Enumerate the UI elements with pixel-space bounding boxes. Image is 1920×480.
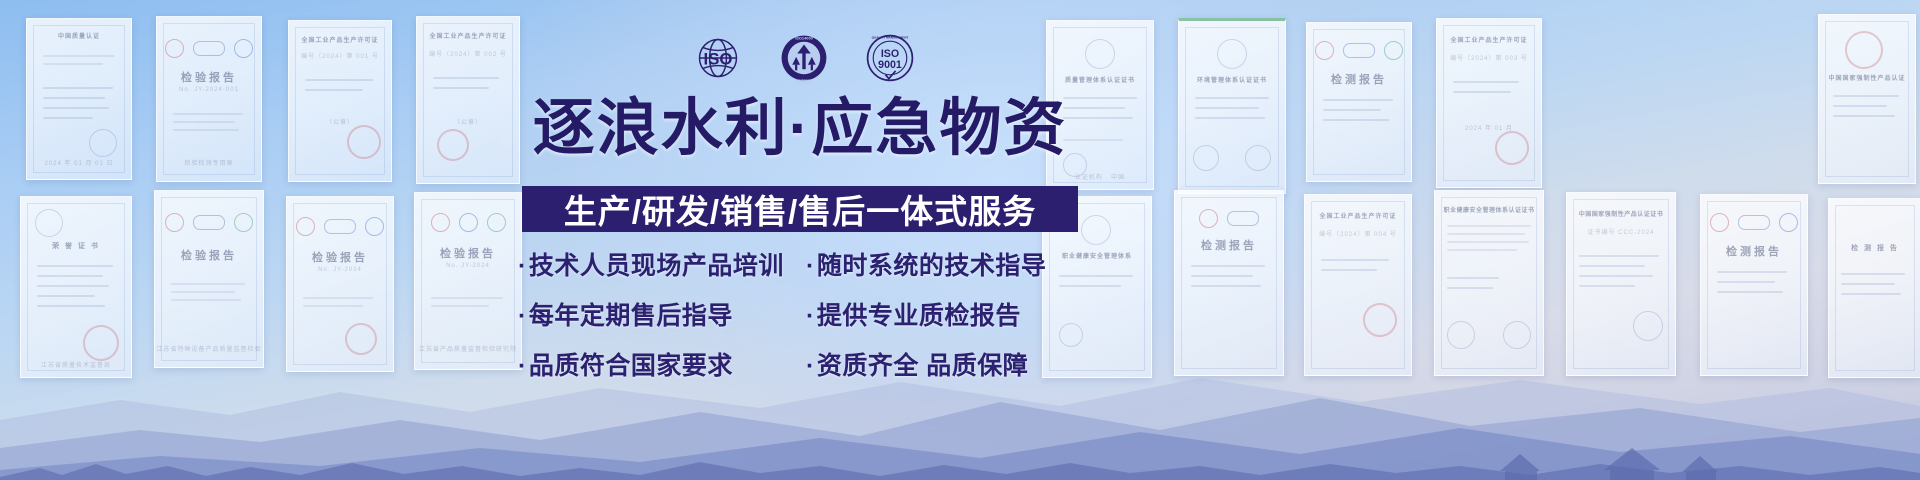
bullet-marker-icon: · [806,252,815,280]
certificate-title: 检验报告 [155,247,263,263]
bullet-marker-icon: · [806,352,815,380]
certification-badge-row: ISO ISO14000 环境管理 [690,30,918,86]
certificate-thumb: 环境管理体系认证证书 [1178,18,1286,194]
iso-9001-bottom-label: 9001 [878,59,902,71]
bullet-marker-icon: · [518,302,527,330]
certificate-thumb: 中国质量认证 2024 年 01 月 01 日 [26,18,132,180]
feature-bullet-list: ·技术人员现场产品培训 ·随时系统的技术指导 ·每年定期售后指导 ·提供专业质检… [518,246,1082,382]
list-item-label: 随时系统的技术指导 [817,252,1047,280]
certificate-title: 环境管理体系认证证书 [1179,75,1285,84]
certificate-title: 检测报告 [1307,71,1411,87]
certificate-title: 检验报告 [287,249,393,265]
list-item: ·每年定期售后指导 [518,296,806,332]
iso-9001-top-label: ISO [881,48,899,60]
bullet-marker-icon: · [518,252,527,280]
list-item: ·提供专业质检报告 [806,296,1082,332]
certificate-thumb: 全国工业产品生产许可证 编号（2024）第 003 号 2024 年 01 月 [1436,18,1542,188]
promo-banner: 中国质量认证 2024 年 01 月 01 日 检验报告 No. JY-2024… [0,0,1920,480]
svg-text:环境管理: 环境管理 [796,79,812,84]
svg-text:ISO14000: ISO14000 [795,36,813,41]
bullet-marker-icon: · [518,352,527,380]
certificate-thumb: 检 测 报 告 [1828,198,1920,378]
list-item-label: 提供专业质检报告 [817,302,1021,330]
certificate-thumb: 检测报告 [1306,22,1412,182]
subtitle-band: 生产/研发/销售/售后一体式服务 [522,186,1078,232]
svg-text:QUALITY MANAGEMENT: QUALITY MANAGEMENT [872,35,909,39]
certificate-thumb: 荣 誉 证 书 江苏省质量技术监督局 [20,196,132,378]
certificate-title: 检测报告 [1175,237,1283,253]
certificate-thumb: 职业健康安全管理体系认证证书 [1434,190,1544,376]
certificate-thumb: 全国工业产品生产许可证 编号（2024）第 004 号 [1304,194,1412,376]
list-item-label: 每年定期售后指导 [529,302,733,330]
certificate-thumb: 检验报告 No. JY-2024-001 检验检测专用章 [156,16,262,182]
list-item: ·技术人员现场产品培训 [518,246,806,282]
house-silhouettes [1500,448,1718,480]
certificate-title: 检验报告 [157,69,261,85]
certificate-thumb: 检验报告 No. JY-2024 [286,196,394,372]
subtitle-text: 生产/研发/销售/售后一体式服务 [564,185,1037,233]
banner-content: ISO ISO14000 环境管理 [500,0,1100,480]
iso-globe-badge: ISO [690,30,746,86]
list-item: ·资质齐全 品质保障 [806,346,1082,382]
certificate-title: 检测报告 [1701,243,1807,259]
iso-14000-badge: ISO14000 环境管理 [776,30,832,86]
certificate-subtitle: No. JY-2024-001 [157,87,261,93]
iso-globe-label: ISO [704,50,733,69]
list-item: ·随时系统的技术指导 [806,246,1082,282]
certificate-thumb: 全国工业产品生产许可证 编号（2024）第 001 号 （公章） [288,20,392,182]
page-title: 逐浪水利·应急物资 [500,98,1100,160]
certificate-thumb: 检测报告 [1700,194,1808,376]
certificate-thumb: 中国国家强制性产品认证证书 证书编号 CCC-2024 [1566,192,1676,376]
list-item-label: 品质符合国家要求 [529,352,733,380]
iso-9001-badge: ISO 9001 QUALITY MANAGEMENT [862,30,918,86]
list-item-label: 技术人员现场产品培训 [529,252,784,280]
list-item-label: 资质齐全 品质保障 [817,352,1028,380]
certificate-thumb: 中国国家强制性产品认证 [1818,14,1916,184]
certificate-thumb: 检测报告 [1174,190,1284,376]
certificate-thumb: 检验报告 江苏省特种设备产品质量监督检验 [154,190,264,368]
bullet-marker-icon: · [806,302,815,330]
list-item: ·品质符合国家要求 [518,346,806,382]
